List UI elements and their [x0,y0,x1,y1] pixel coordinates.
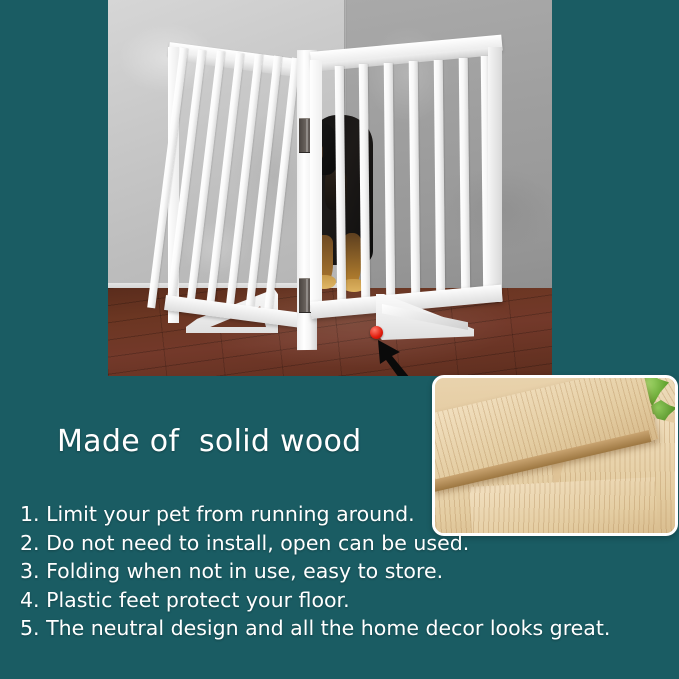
page-title: Made of solid wood [57,424,362,459]
list-item: 1. Limit your pet from running around. [20,500,620,529]
list-item: 4. Plastic feet protect your floor. [20,586,620,615]
list-item-number: 5. [20,616,40,640]
list-item-text: The neutral design and all the home deco… [46,616,610,640]
list-item-text: Plastic feet protect your floor. [46,588,350,612]
list-item-text: Do not need to install, open can be used… [46,531,469,555]
list-item-number: 1. [20,502,40,526]
callout-arrow [376,334,438,376]
list-item: 5. The neutral design and all the home d… [20,614,620,643]
list-item: 2. Do not need to install, open can be u… [20,529,620,558]
gate-bar [335,66,347,306]
list-item-text: Limit your pet from running around. [46,502,415,526]
list-item: 3. Folding when not in use, easy to stor… [20,557,620,586]
gate-panel-left-bars [176,48,302,322]
poster-canvas: Made of solid wood 1. Limit your pet fro… [0,0,679,679]
gate-bar [384,63,396,304]
gate-bar [409,61,421,303]
list-item-number: 2. [20,531,40,555]
gate-panel-left [168,42,300,338]
gate-bar [434,60,446,302]
feature-list: 1. Limit your pet from running around. 2… [20,500,620,643]
list-item-number: 3. [20,559,40,583]
gate-bar [459,58,471,301]
gate-panel-right-right-stile [488,47,502,302]
list-item-text: Folding when not in use, easy to store. [46,559,443,583]
gate-panel-right-bars [310,52,502,320]
gate-bar [186,51,225,310]
list-item-number: 4. [20,588,40,612]
gate-bar [359,64,371,305]
pet-gate-in-room-photo [108,0,552,376]
